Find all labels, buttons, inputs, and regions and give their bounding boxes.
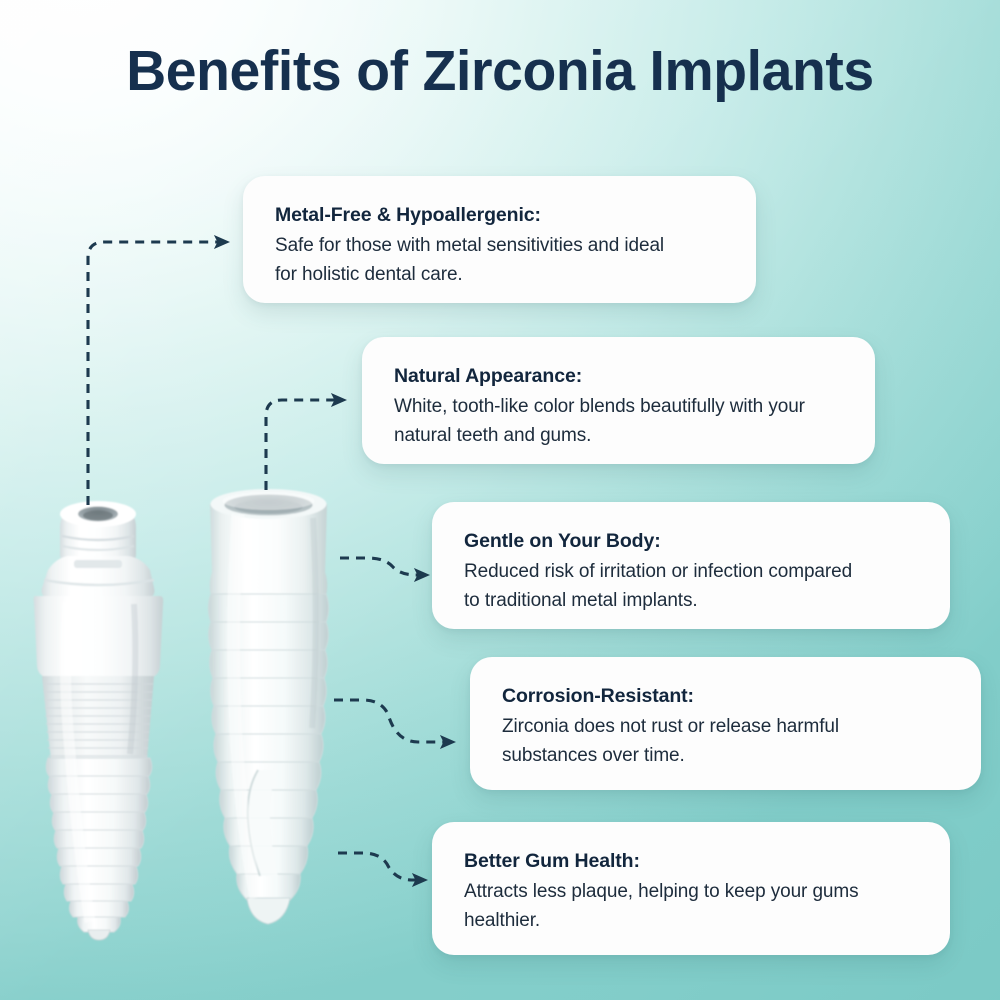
benefit-card-body: Zirconia does not rust or release harmfu… — [502, 713, 951, 771]
benefit-card-better-gum-health[interactable]: Better Gum Health: Attracts less plaque,… — [432, 822, 950, 955]
benefit-card-body: Reduced risk of irritation or infection … — [464, 558, 920, 616]
benefit-card-line: natural teeth and gums. — [394, 422, 845, 451]
infographic-canvas: Benefits of Zirconia Implants — [0, 0, 1000, 1000]
benefit-card-body: Safe for those with metal sensitivities … — [275, 232, 726, 290]
benefit-card-heading: Corrosion-Resistant: — [502, 683, 951, 709]
benefit-card-line: White, tooth-like color blends beautiful… — [394, 393, 845, 422]
benefit-card-line: for holistic dental care. — [275, 261, 726, 290]
benefit-card-body: Attracts less plaque, helping to keep yo… — [464, 878, 920, 936]
benefit-card-gentle-on-body[interactable]: Gentle on Your Body: Reduced risk of irr… — [432, 502, 950, 629]
benefit-card-heading: Natural Appearance: — [394, 363, 845, 389]
benefit-card-line: Safe for those with metal sensitivities … — [275, 232, 726, 261]
benefit-card-heading: Better Gum Health: — [464, 848, 920, 874]
benefit-card-line: to traditional metal implants. — [464, 587, 920, 616]
benefit-card-line: substances over time. — [502, 742, 951, 771]
zirconia-implant-two-piece-illustration — [8, 492, 188, 942]
zirconia-implant-one-piece-illustration — [186, 478, 351, 940]
benefit-card-body: White, tooth-like color blends beautiful… — [394, 393, 845, 451]
benefit-card-line: Attracts less plaque, helping to keep yo… — [464, 878, 920, 907]
benefit-card-line: healthier. — [464, 907, 920, 936]
benefit-card-line: Zirconia does not rust or release harmfu… — [502, 713, 951, 742]
benefit-card-natural-appearance[interactable]: Natural Appearance: White, tooth-like co… — [362, 337, 875, 464]
page-title: Benefits of Zirconia Implants — [15, 42, 985, 102]
benefit-card-corrosion-resistant[interactable]: Corrosion-Resistant: Zirconia does not r… — [470, 657, 981, 790]
benefit-card-heading: Metal-Free & Hypoallergenic: — [275, 202, 726, 228]
benefit-card-heading: Gentle on Your Body: — [464, 528, 920, 554]
benefit-card-metal-free[interactable]: Metal-Free & Hypoallergenic: Safe for th… — [243, 176, 756, 303]
benefit-card-line: Reduced risk of irritation or infection … — [464, 558, 920, 587]
